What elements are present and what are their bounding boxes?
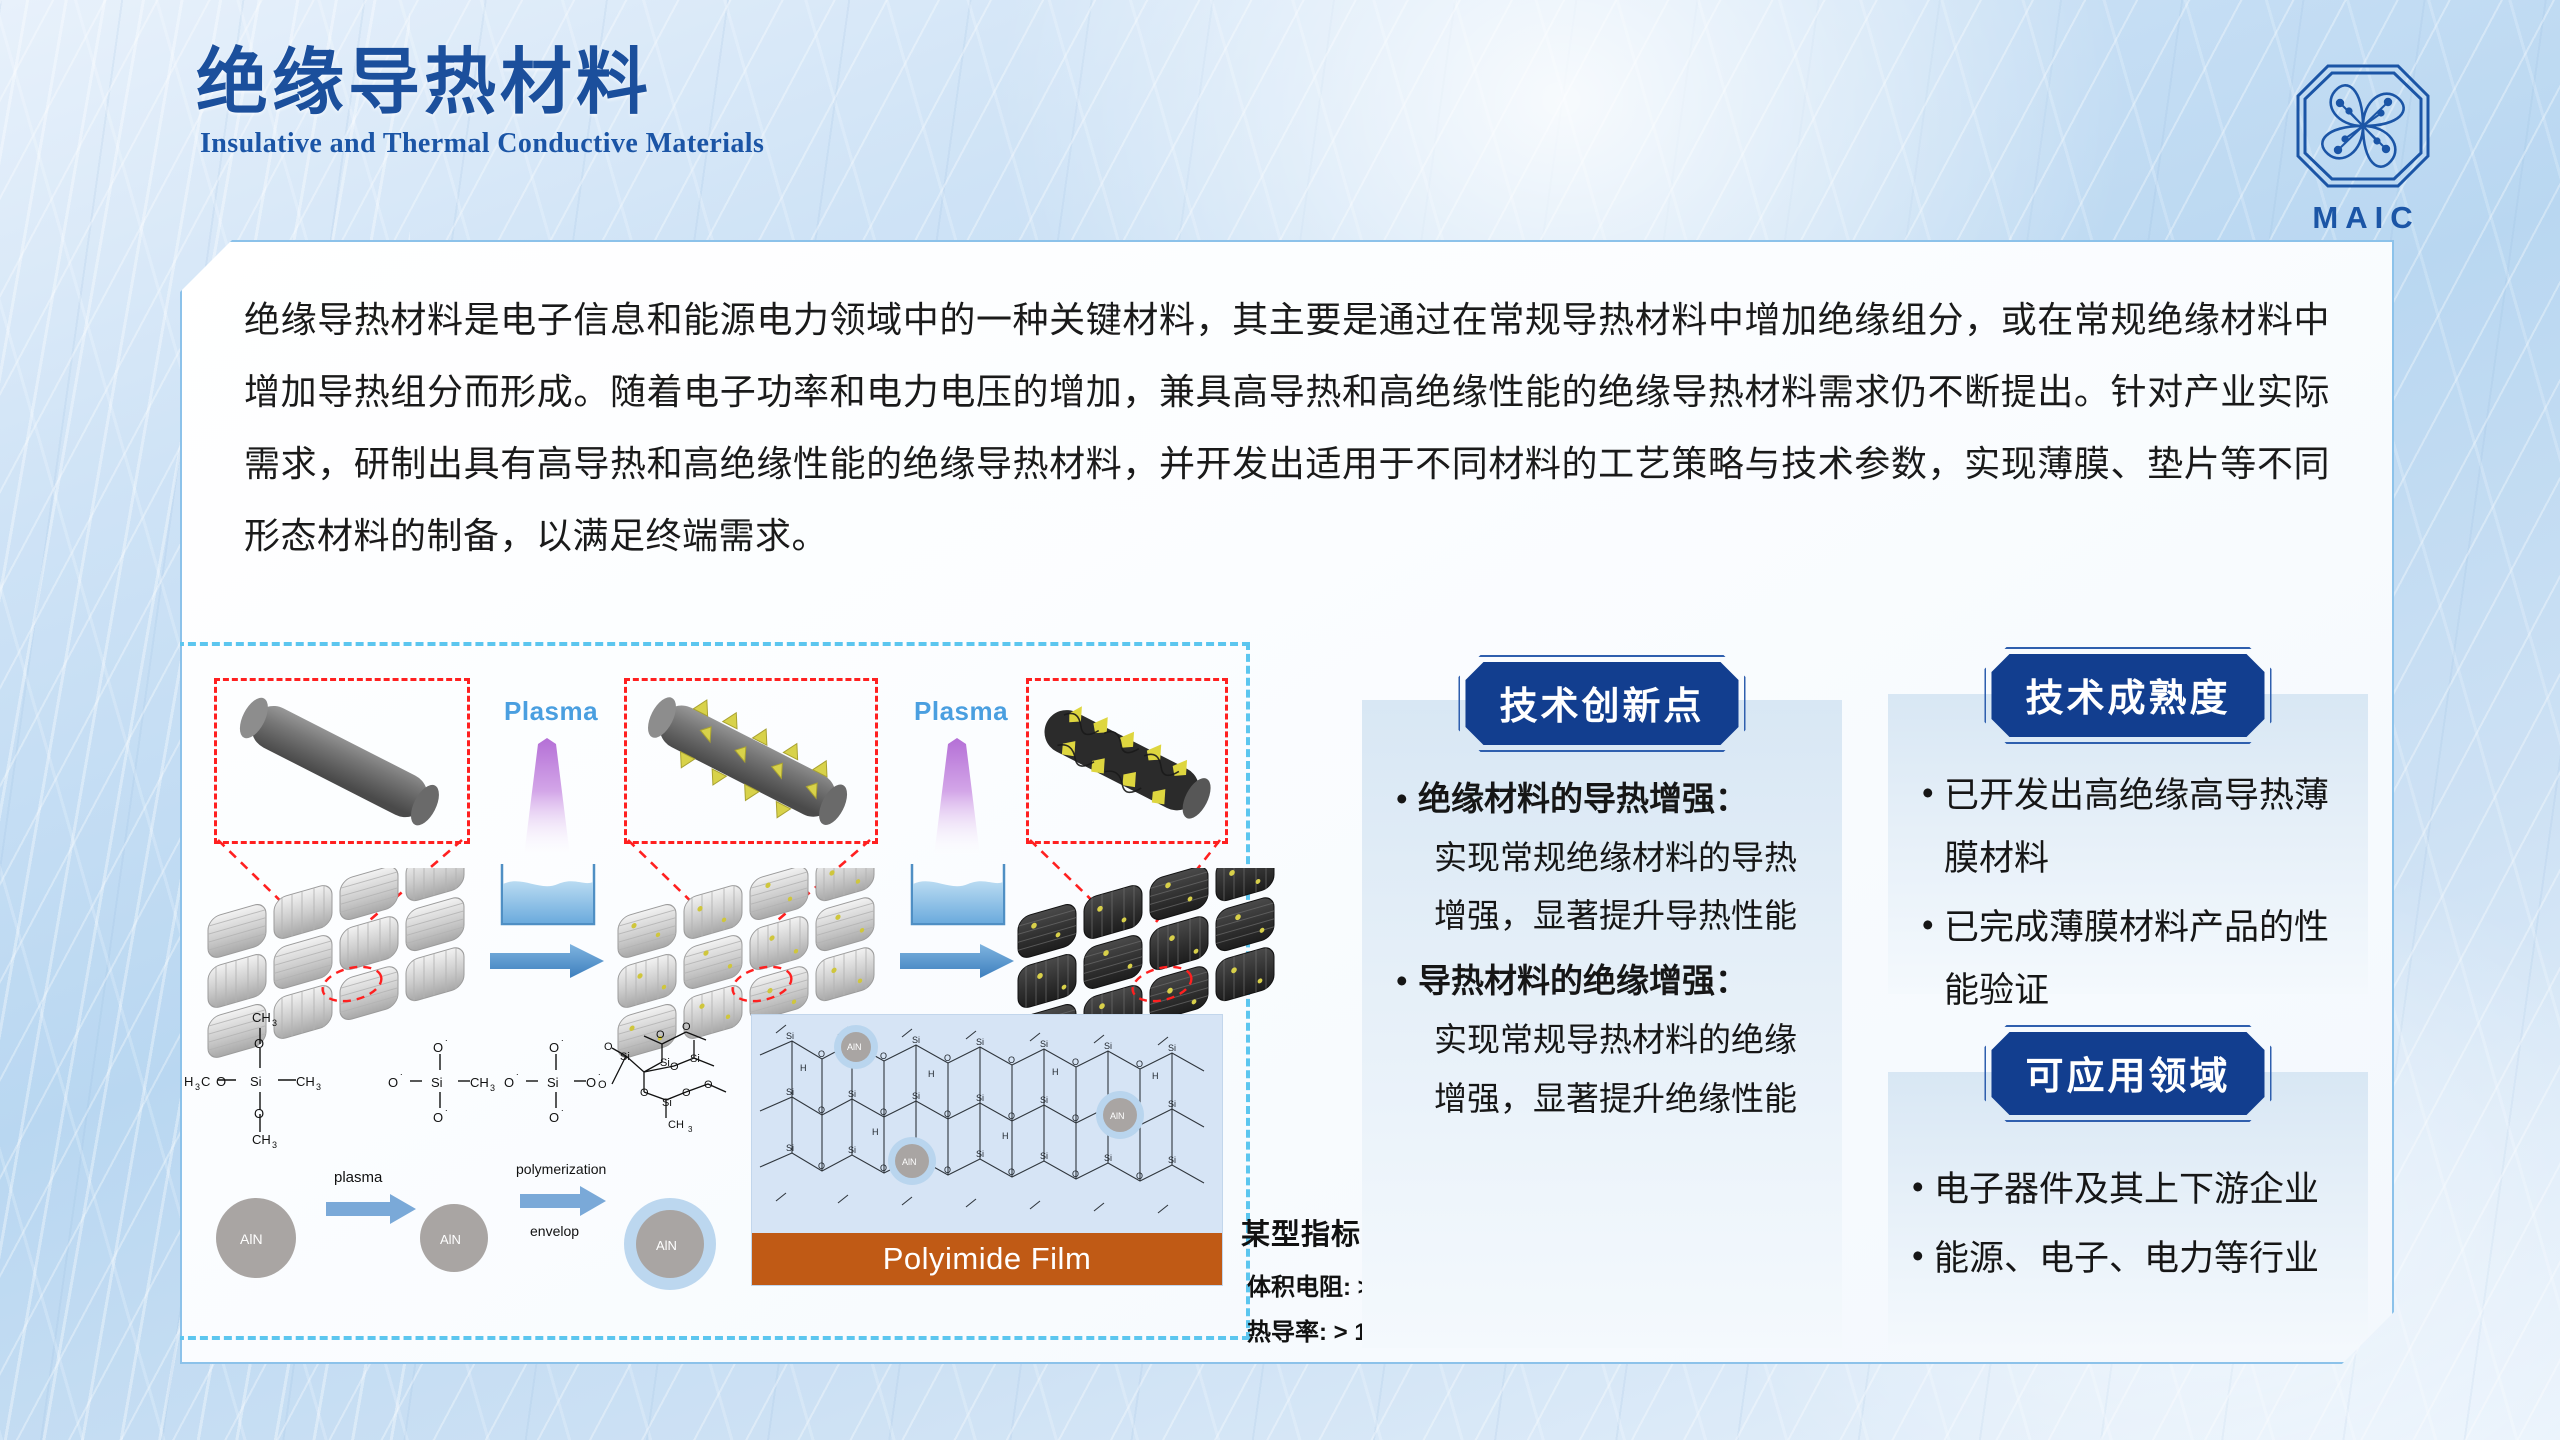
innovation-item-1-title: 导热材料的绝缘增强： [1418, 962, 1748, 999]
svg-text:Si: Si [620, 1051, 630, 1063]
process-arrow-1-icon [490, 944, 606, 978]
svg-text:Si: Si [690, 1053, 700, 1065]
svg-text:H: H [800, 1063, 807, 1073]
spec-conductivity-op: > [1334, 1319, 1348, 1346]
svg-text:CH: CH [252, 1132, 271, 1147]
svg-text:CH: CH [470, 1075, 489, 1090]
svg-text:Si: Si [786, 1087, 794, 1097]
svg-text:O: O [504, 1075, 514, 1090]
svg-text:Si: Si [1168, 1155, 1176, 1165]
bullet-icon: • [1912, 1158, 1934, 1221]
innovation-item-0-title: 绝缘材料的导热增强： [1418, 780, 1748, 817]
svg-text:O: O [1008, 1055, 1015, 1065]
svg-text:AlN: AlN [847, 1042, 862, 1052]
svg-text:3: 3 [272, 1018, 277, 1028]
svg-text:Si: Si [912, 1035, 920, 1045]
svg-text:3: 3 [490, 1083, 495, 1093]
svg-text:AlN: AlN [902, 1157, 917, 1167]
svg-text:˙: ˙ [516, 1073, 520, 1085]
svg-text:plasma: plasma [334, 1169, 383, 1186]
svg-text:O: O [682, 1021, 691, 1033]
zoom-box-fiber-coated [1026, 678, 1228, 844]
list-item: • 绝缘材料的导热增强： 实现常规绝缘材料的导热增强，显著提升导热性能 [1396, 770, 1820, 946]
svg-text:Si: Si [250, 1074, 262, 1089]
fiber-coated-icon [1029, 681, 1219, 835]
svg-text:Si: Si [976, 1037, 984, 1047]
svg-text:Si: Si [786, 1143, 794, 1153]
svg-text:O: O [586, 1075, 596, 1090]
polyimide-film-label: Polyimide Film [752, 1233, 1222, 1285]
badge-innovation[interactable]: 技术创新点 [1465, 662, 1738, 745]
svg-text:3: 3 [316, 1082, 321, 1092]
svg-text:Si: Si [976, 1093, 984, 1103]
svg-text:O: O [1008, 1111, 1015, 1121]
svg-text:O: O [944, 1109, 951, 1119]
bullet-icon: • [1912, 1227, 1934, 1290]
list-item: • 已开发出高绝缘高导热薄膜材料 [1922, 764, 2346, 890]
svg-text:O: O [549, 1110, 559, 1125]
badge-application-wrap: 可应用领域 [1888, 1032, 2368, 1115]
liquid-bath-1-icon [496, 862, 600, 928]
logo-wordmark: MAIC [2290, 200, 2442, 236]
panel-innovation: 技术创新点 • 绝缘材料的导热增强： 实现常规绝缘材料的导热增强，显著提升导热性… [1362, 662, 1842, 1310]
svg-text:O: O [254, 1106, 264, 1121]
bullet-icon: • [1922, 896, 1944, 1022]
svg-text:AlN: AlN [440, 1232, 461, 1247]
svg-text:CH: CH [296, 1074, 315, 1089]
bullet-icon: • [1396, 770, 1418, 946]
innovation-item-0-text: 实现常规绝缘材料的导热增强，显著提升导热性能 [1418, 829, 1820, 946]
svg-text:envelop: envelop [530, 1223, 579, 1239]
svg-text:3: 3 [272, 1140, 277, 1150]
fiber-functionalized-icon [627, 681, 869, 835]
svg-text:H: H [928, 1069, 935, 1079]
svg-text:O: O [818, 1105, 825, 1115]
svg-text:O: O [1008, 1167, 1015, 1177]
plasma-cone-1-icon [504, 734, 590, 864]
svg-text:H: H [184, 1074, 193, 1089]
spec-resistivity-name: 体积电阻: [1247, 1274, 1351, 1301]
svg-text:H: H [1152, 1071, 1159, 1081]
svg-text:˙: ˙ [561, 1109, 565, 1121]
liquid-bath-2-icon [906, 862, 1010, 928]
svg-text:Si: Si [1104, 1153, 1112, 1163]
svg-text:AlN: AlN [656, 1238, 677, 1253]
svg-text:Si: Si [1104, 1041, 1112, 1051]
list-item: • 已完成薄膜材料产品的性能验证 [1922, 896, 2346, 1022]
svg-text:H: H [872, 1127, 879, 1137]
svg-text:O: O [1136, 1171, 1143, 1181]
svg-text:O: O [670, 1061, 679, 1073]
svg-text:O: O [818, 1161, 825, 1171]
svg-text:O: O [704, 1079, 713, 1091]
slide-root: 绝缘导热材料 Insulative and Thermal Conductive… [0, 0, 2560, 1440]
svg-text:O: O [944, 1053, 951, 1063]
fiber-pristine-icon [217, 681, 461, 835]
svg-text:Si: Si [1040, 1039, 1048, 1049]
svg-text:˙: ˙ [445, 1109, 449, 1121]
svg-text:Si: Si [1168, 1043, 1176, 1053]
svg-text:O: O [549, 1040, 559, 1055]
badge-maturity-wrap: 技术成熟度 [1888, 654, 2368, 737]
panel-application: 可应用领域 • 电子器件及其上下游企业 • 能源、电子、电力等行业 [1888, 1032, 2368, 1310]
maic-emblem-icon [2288, 56, 2438, 196]
application-list: • 电子器件及其上下游企业 • 能源、电子、电力等行业 [1912, 1158, 2346, 1296]
maturity-item-0-text: 已开发出高绝缘高导热薄膜材料 [1944, 764, 2346, 890]
svg-text:˙: ˙ [561, 1039, 565, 1051]
page-title: 绝缘导热材料 [196, 46, 764, 122]
svg-text:O: O [254, 1036, 264, 1051]
svg-text:O: O [433, 1110, 443, 1125]
svg-text:Si: Si [1040, 1095, 1048, 1105]
svg-text:Si: Si [1040, 1151, 1048, 1161]
plasma-cone-2-icon [914, 734, 1000, 864]
svg-text:Si: Si [848, 1145, 856, 1155]
maturity-item-1-text: 已完成薄膜材料产品的性能验证 [1944, 896, 2346, 1022]
application-item-1-text: 能源、电子、电力等行业 [1934, 1227, 2346, 1290]
plasma-label-2: Plasma [914, 696, 1008, 727]
badge-application[interactable]: 可应用领域 [1991, 1032, 2264, 1115]
process-figure: Plasma [152, 642, 1250, 1340]
slide-header: 绝缘导热材料 Insulative and Thermal Conductive… [196, 46, 764, 160]
svg-text:Si: Si [976, 1149, 984, 1159]
siloxane-network-icon: SiOSiO SiOSiO SiOSiOSi SiOSiO SiOSiO SiO… [752, 1015, 1222, 1233]
svg-text:Si: Si [786, 1031, 794, 1041]
svg-text:polymerization: polymerization [516, 1161, 606, 1177]
svg-text:CH: CH [668, 1119, 684, 1131]
svg-text:O: O [604, 1041, 613, 1053]
chemistry-scheme: CH3 O Si O CH3 H3C O CH3 plasma [174, 996, 734, 1306]
badge-innovation-wrap: 技术创新点 [1362, 662, 1842, 745]
svg-text:3: 3 [195, 1082, 200, 1092]
plasma-process-row: Plasma [174, 672, 1224, 992]
application-item-0-text: 电子器件及其上下游企业 [1934, 1158, 2346, 1221]
innovation-item-1-text: 实现常规导热材料的绝缘增强，显著提升绝缘性能 [1418, 1011, 1820, 1128]
svg-text:O: O [880, 1163, 887, 1173]
list-item: • 能源、电子、电力等行业 [1912, 1227, 2346, 1290]
svg-text:AlN: AlN [1110, 1111, 1125, 1121]
intro-paragraph: 绝缘导热材料是电子信息和能源电力领域中的一种关键材料，其主要是通过在常规导热材料… [244, 284, 2330, 572]
svg-text:O: O [1072, 1169, 1079, 1179]
svg-text:3: 3 [688, 1125, 693, 1134]
svg-text:Si: Si [547, 1075, 559, 1090]
svg-text:O: O [880, 1107, 887, 1117]
svg-text:˙: ˙ [400, 1073, 404, 1085]
spec-conductivity-name: 热导率: [1247, 1319, 1327, 1346]
svg-text:O: O [944, 1165, 951, 1175]
badge-maturity[interactable]: 技术成熟度 [1991, 654, 2264, 737]
svg-text:O: O [640, 1087, 649, 1099]
svg-text:C: C [201, 1074, 210, 1089]
svg-text:˙: ˙ [445, 1039, 449, 1051]
polyimide-film-panel: SiOSiO SiOSiO SiOSiOSi SiOSiO SiOSiO SiO… [751, 1014, 1223, 1286]
bullet-icon: • [1396, 952, 1418, 1128]
svg-text:CH: CH [252, 1010, 271, 1025]
svg-text:Si: Si [660, 1057, 670, 1069]
svg-text:O: O [388, 1075, 398, 1090]
svg-text:O: O [1136, 1059, 1143, 1069]
svg-text:Si: Si [431, 1075, 443, 1090]
svg-text:O: O [216, 1074, 226, 1089]
svg-text:O: O [682, 1087, 691, 1099]
svg-text:H: H [1002, 1131, 1009, 1141]
list-item: • 导热材料的绝缘增强： 实现常规导热材料的绝缘增强，显著提升绝缘性能 [1396, 952, 1820, 1128]
svg-text:Si: Si [912, 1091, 920, 1101]
maic-logo: MAIC [2284, 56, 2442, 236]
svg-text:O: O [1072, 1113, 1079, 1123]
svg-text:O: O [880, 1051, 887, 1061]
svg-text:AlN: AlN [240, 1231, 263, 1247]
svg-text:Si: Si [662, 1097, 672, 1109]
svg-text:O: O [818, 1049, 825, 1059]
svg-text:O: O [1072, 1057, 1079, 1067]
svg-text:H: H [1052, 1067, 1059, 1077]
maturity-list: • 已开发出高绝缘高导热薄膜材料 • 已完成薄膜材料产品的性能验证 [1922, 764, 2346, 1028]
list-item: • 电子器件及其上下游企业 [1912, 1158, 2346, 1221]
silane-plasma-polymerization-icon: CH3 O Si O CH3 H3C O CH3 plasma [174, 996, 734, 1306]
svg-text:O: O [433, 1040, 443, 1055]
svg-text:Si: Si [848, 1089, 856, 1099]
innovation-list: • 绝缘材料的导热增强： 实现常规绝缘材料的导热增强，显著提升导热性能 • 导热… [1396, 770, 1820, 1134]
panel-maturity: 技术成熟度 • 已开发出高绝缘高导热薄膜材料 • 已完成薄膜材料产品的性能验证 [1888, 654, 2368, 954]
bullet-icon: • [1922, 764, 1944, 890]
svg-text:O: O [598, 1079, 607, 1091]
content-card: 绝缘导热材料是电子信息和能源电力领域中的一种关键材料，其主要是通过在常规导热材料… [180, 240, 2394, 1364]
plasma-label-1: Plasma [504, 696, 598, 727]
svg-text:O: O [656, 1029, 665, 1041]
process-arrow-2-icon [900, 944, 1016, 978]
page-subtitle: Insulative and Thermal Conductive Materi… [200, 128, 764, 160]
svg-text:Si: Si [1168, 1099, 1176, 1109]
zoom-box-fiber-functionalized [624, 678, 878, 844]
zoom-box-fiber-pristine [214, 678, 470, 844]
